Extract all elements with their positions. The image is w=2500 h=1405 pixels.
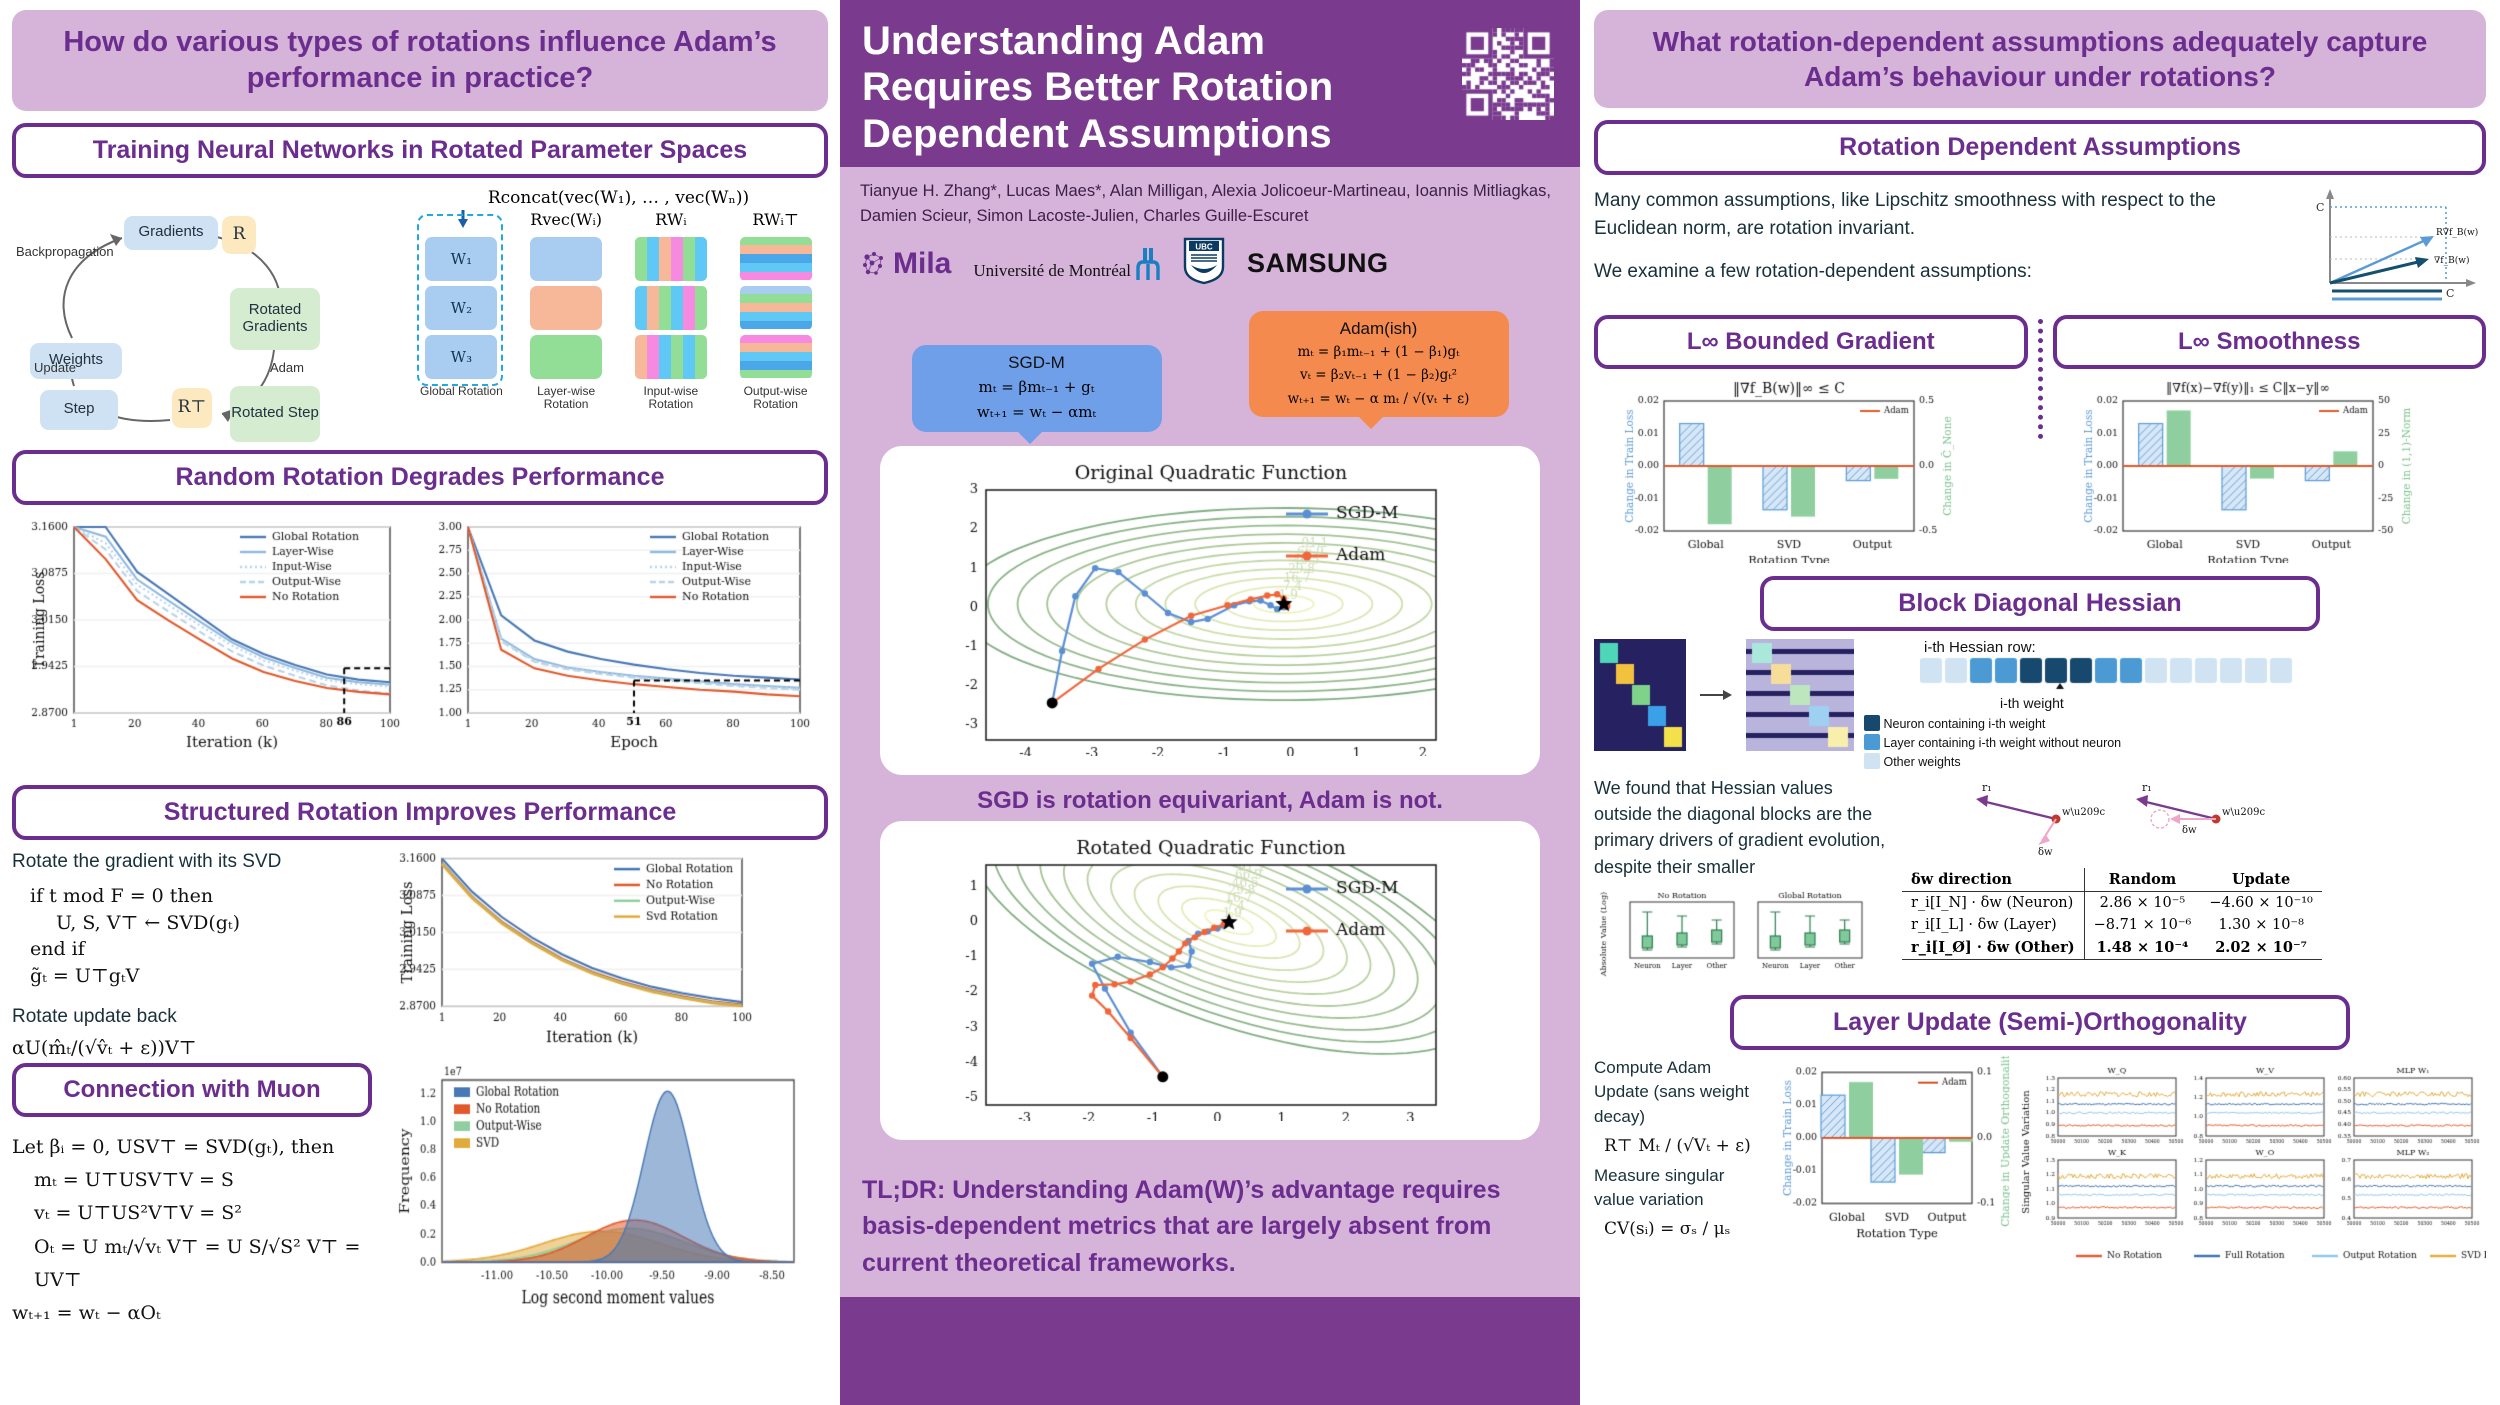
svd-algo-line-0: if t mod F = 0 then <box>30 883 372 910</box>
rotate-back-label: Rotate update back <box>12 1003 372 1031</box>
hessian-legend-item-1: Layer containing i-th weight without neu… <box>1864 734 2486 753</box>
table-header-row: δw direction Random Update <box>1902 868 2322 892</box>
hessian-row-cells <box>1920 656 2300 690</box>
right-question-banner: What rotation-dependent assumptions adeq… <box>1594 10 2486 108</box>
label-dw-right: δw <box>2182 825 2197 836</box>
optimizer-bubbles: SGD-M mₜ = βmₜ₋₁ + gₜ wₜ₊₁ = wₜ − αmₜ Ad… <box>860 311 1560 433</box>
label-wt-right: w\u209c <box>2222 807 2265 818</box>
assumption-para-2: We examine a few rotation-dependent assu… <box>1594 258 2276 286</box>
table-row: r_i[I_Ø] · δw (Other) 1.48 × 10⁻⁴ 2.02 ×… <box>1902 936 2322 960</box>
label-dw-left: δw <box>2038 847 2053 858</box>
diagram-label-c-bottom: C <box>2446 287 2454 300</box>
caption-global-rotation: Global Rotation <box>415 385 507 399</box>
ubc-text: UBC <box>1195 243 1213 252</box>
layer-text-1: Compute Adam Update (sans weight decay) <box>1594 1056 1754 1130</box>
muon-line-0: Let βᵢ = 0, USV⊤ = SVD(gₜ), then <box>12 1131 372 1164</box>
hessian-rows-matrix <box>1746 639 1854 751</box>
section-title-block-diagonal-hessian: Block Diagonal Hessian <box>1760 576 2320 631</box>
edge-label-update: Update <box>34 360 76 375</box>
rotation-diagram-row: Gradients Rotated Gradients Rotated Step… <box>12 188 828 438</box>
outputwise-block-2 <box>740 286 812 330</box>
sgdm-bubble: SGD-M mₜ = βmₜ₋₁ + gₜ wₜ₊₁ = wₜ − αmₜ <box>912 345 1162 433</box>
diagram-label-c-top: C <box>2316 201 2324 214</box>
poster-root: How do various types of rotations influe… <box>0 0 2500 1405</box>
muon-line-3: Oₜ = U mₜ/√vₜ V⊤ = U S/√S² V⊤ = UV⊤ <box>34 1231 372 1298</box>
cell-direction: r_i[I_N] · δw (Neuron) <box>1902 892 2084 915</box>
muon-line-2: vₜ = U⊤US²V⊤V = S² <box>34 1197 372 1230</box>
rotation-cycle-diagram: Gradients Rotated Gradients Rotated Step… <box>12 188 401 438</box>
adam-bubble: Adam(ish) mₜ = β₁mₜ₋₁ + (1 − β₁)gₜ vₜ = … <box>1249 311 1509 418</box>
smoothness-card: L∞ Smoothness <box>2053 315 2487 568</box>
muon-line-4: wₜ₊₁ = wₜ − αOₜ <box>12 1297 372 1330</box>
caption-inputwise-rotation: Input-wise Rotation <box>625 385 717 413</box>
node-rotated-gradients: Rotated Gradients <box>230 288 320 350</box>
rconcat-formula: Rconcat(vec(W₁), … , vec(Wₙ)) <box>409 188 828 208</box>
global-rotation-dashed-box <box>417 214 503 386</box>
muon-row: Connection with Muon Let βᵢ = 0, USV⊤ = … <box>12 1063 828 1331</box>
layer-block-1 <box>530 237 602 281</box>
assumption-cards-row: L∞ Bounded Gradient L∞ Smoothness <box>1594 315 2486 568</box>
logo-ubc: UBC <box>1183 237 1225 290</box>
left-column: How do various types of rotations influe… <box>0 0 840 1405</box>
hessian-findings-row: We found that Hessian values outside the… <box>1594 775 2486 988</box>
section-title-random-rotation: Random Rotation Degrades Performance <box>12 450 828 505</box>
card-title-smoothness: L∞ Smoothness <box>2053 315 2487 369</box>
edge-label-backpropagation: Backpropagation <box>16 244 114 259</box>
logo-udem-text: Université de Montréal <box>973 262 1131 280</box>
cell-random: 1.48 × 10⁻⁴ <box>2084 936 2200 960</box>
svd-algo-line-1: U, S, V⊤ ← SVD(gₜ) <box>56 910 372 937</box>
logo-mila-text: Mila <box>893 247 951 281</box>
layer-formula-2: CV(sᵢ) = σₛ / μₛ <box>1604 1219 1754 1239</box>
rotate-back-formula: αU(m̂ₜ/(√v̂ₜ + ε))V⊤ <box>12 1037 372 1059</box>
chart-second-moment-histogram <box>380 1063 820 1331</box>
muon-block: Connection with Muon Let βᵢ = 0, USV⊤ = … <box>12 1063 372 1331</box>
vector-group-right: r₁ w\u209c δw <box>2136 781 2265 836</box>
outputwise-block-1 <box>740 237 812 281</box>
hessian-findings-text-block: We found that Hessian values outside the… <box>1594 775 1894 988</box>
chart-svd-training-loss <box>380 848 820 1059</box>
hessian-legend: Neuron containing i-th weight Layer cont… <box>1864 715 2486 771</box>
muon-line-1: mₜ = U⊤USV⊤V = S <box>34 1164 372 1197</box>
chart-bounded-gradient <box>1594 373 2024 563</box>
left-question-banner: How do various types of rotations influe… <box>12 10 828 111</box>
adam-title: Adam(ish) <box>1263 319 1495 339</box>
vector-group-left: r₁ w\u209c δw <box>1976 781 2105 858</box>
th-random: Random <box>2084 868 2200 892</box>
hessian-row-label: i-th Hessian row: <box>1924 639 2486 656</box>
poster-title: Understanding Adam Requires Better Rotat… <box>840 0 1460 167</box>
svd-algo-line-3: g̃ₜ = U⊤gₜV <box>30 963 372 990</box>
legend-text-other: Other weights <box>1883 755 1960 769</box>
cell-update: −4.60 × 10⁻¹⁰ <box>2200 892 2322 915</box>
gradient-bound-diagram: C R∇f_B(w) ∇f_B(w) C <box>2286 187 2486 305</box>
rotation-types-grid: Rconcat(vec(W₁), … , vec(Wₙ)) W₁ W₂ W₃ G… <box>409 188 828 438</box>
rotation-header-outputwise: RWᵢ⊤ <box>730 210 822 232</box>
hessian-weight-label: i-th weight <box>2000 695 2486 711</box>
caption-outputwise-rotation: Output-wise Rotation <box>730 385 822 413</box>
right-column: What rotation-dependent assumptions adeq… <box>1580 0 2500 1405</box>
legend-text-neuron: Neuron containing i-th weight <box>1883 717 2045 731</box>
chart-singular-value-variation <box>2016 1056 2486 1271</box>
svd-algorithm: if t mod F = 0 then U, S, V⊤ ← SVD(gₜ) e… <box>30 883 372 989</box>
rotation-matrix-r-transpose: R⊤ <box>172 388 212 428</box>
table-body: r_i[I_N] · δw (Neuron) 2.86 × 10⁻⁵ −4.60… <box>1902 892 2322 960</box>
author-list: Tianyue H. Zhang*, Lucas Maes*, Alan Mil… <box>860 179 1560 229</box>
middle-caption: SGD is rotation equivariant, Adam is not… <box>860 775 1560 819</box>
sgdm-line-0: mₜ = βmₜ₋₁ + gₜ <box>926 377 1148 399</box>
legend-text-layer: Layer containing i-th weight without neu… <box>1883 736 2121 750</box>
hessian-row: i-th Hessian row: i-th weight Neuron con… <box>1594 639 2486 771</box>
mila-mark-icon <box>860 250 888 278</box>
diagram-label-rotated-grad: R∇f_B(w) <box>2436 227 2478 238</box>
card-title-bounded-gradient: L∞ Bounded Gradient <box>1594 315 2028 369</box>
table-row: r_i[I_L] · δw (Layer) −8.71 × 10⁻⁶ 1.30 … <box>1902 914 2322 936</box>
cell-random: −8.71 × 10⁻⁶ <box>2084 914 2200 936</box>
layer-formula-1: R⊤ Mₜ / (√Vₜ + ε) <box>1604 1136 1754 1156</box>
node-gradients: Gradients <box>124 216 218 250</box>
cell-random: 2.86 × 10⁻⁵ <box>2084 892 2200 915</box>
label-r1-left: r₁ <box>1982 781 1992 794</box>
cell-update: 2.02 × 10⁻⁷ <box>2200 936 2322 960</box>
authors-band: Tianyue H. Zhang*, Lucas Maes*, Alan Mil… <box>840 167 1580 1156</box>
outputwise-block-3 <box>740 335 812 379</box>
hessian-findings-text: We found that Hessian values outside the… <box>1594 775 1894 879</box>
adam-line-0: mₜ = β₁mₜ₋₁ + (1 − β₁)gₜ <box>1263 343 1495 363</box>
logo-row: Mila Université de Montréal UBC <box>860 241 1560 287</box>
sgdm-line-1: wₜ₊₁ = wₜ − αmₜ <box>926 402 1148 424</box>
cell-update: 1.30 × 10⁻⁸ <box>2200 914 2322 936</box>
assumption-intro-row: Many common assumptions, like Lipschitz … <box>1594 187 2486 305</box>
chart-gpt2-training-loss <box>12 513 416 773</box>
section-title-layer-update: Layer Update (Semi-)Orthogonality <box>1730 995 2350 1050</box>
layer-update-row: Compute Adam Update (sans weight decay) … <box>1594 1056 2486 1271</box>
svd-intro: Rotate the gradient with its SVD <box>12 848 372 876</box>
cell-direction: r_i[I_Ø] · δw (Other) <box>1902 936 2084 960</box>
svd-text-block: Rotate the gradient with its SVD if t mo… <box>12 848 372 1059</box>
chart-original-quadratic <box>886 456 1546 756</box>
diagram-label-grad: ∇f_B(w) <box>2434 255 2469 266</box>
hessian-direction-table: δw direction Random Update r_i[I_N] · δw… <box>1902 868 2322 960</box>
cell-direction: r_i[I_L] · δw (Layer) <box>1902 914 2084 936</box>
svd-algo-line-2: end if <box>30 936 372 963</box>
layer-block-3 <box>530 335 602 379</box>
legend-swatch-layer <box>1864 734 1880 750</box>
th-direction: δw direction <box>1902 868 2084 892</box>
rotation-header-layerwise: Rvec(Wᵢ) <box>520 210 612 232</box>
bounded-gradient-card: L∞ Bounded Gradient <box>1594 315 2028 568</box>
label-wt-left: w\u209c <box>2062 807 2105 818</box>
sgdm-title: SGD-M <box>926 353 1148 373</box>
loss-charts-row <box>12 513 828 773</box>
udem-mark-icon <box>1135 248 1161 280</box>
section-title-rotation-assumptions: Rotation Dependent Assumptions <box>1594 120 2486 175</box>
hessian-legend-item-2: Other weights <box>1864 753 2486 772</box>
node-step: Step <box>40 390 118 430</box>
hessian-vectors-and-table: r₁ w\u209c δw r₁ w\u209c δw <box>1902 775 2486 988</box>
rotated-quadratic-card <box>880 821 1540 1140</box>
layer-text-2: Measure singular value variation <box>1594 1164 1754 1213</box>
middle-column: Understanding Adam Requires Better Rotat… <box>840 0 1580 1405</box>
logo-samsung: SAMSUNG <box>1247 248 1389 279</box>
caption-layerwise-rotation: Layer-wise Rotation <box>520 385 612 413</box>
chart-rotated-quadratic <box>886 831 1546 1121</box>
ubc-shield-icon: UBC <box>1183 237 1225 285</box>
tldr-banner: TL;DR: Understanding Adam(W)’s advantage… <box>840 1156 1580 1297</box>
hessian-legend-item-0: Neuron containing i-th weight <box>1864 715 2486 734</box>
original-quadratic-card <box>880 446 1540 775</box>
rotation-matrix-r: R <box>222 216 256 254</box>
layer-update-text-block: Compute Adam Update (sans weight decay) … <box>1594 1056 1754 1271</box>
vertical-divider <box>2038 319 2043 439</box>
inputwise-block-3 <box>635 335 707 379</box>
hessian-row-explainer: i-th Hessian row: i-th weight Neuron con… <box>1864 639 2486 771</box>
assumption-text-block: Many common assumptions, like Lipschitz … <box>1594 187 2276 305</box>
hessian-block-diagonal-matrix <box>1594 639 1686 751</box>
label-r1-right: r₁ <box>2142 781 2152 794</box>
assumption-para-1: Many common assumptions, like Lipschitz … <box>1594 187 2276 242</box>
legend-swatch-other <box>1864 753 1880 769</box>
adam-line-2: wₜ₊₁ = wₜ − α mₜ / √(vₜ + ε) <box>1263 390 1495 410</box>
layer-block-2 <box>530 286 602 330</box>
chart-hessian-boxplots <box>1594 886 1884 984</box>
logo-mila: Mila <box>860 247 951 281</box>
th-update: Update <box>2200 868 2322 892</box>
svd-row: Rotate the gradient with its SVD if t mo… <box>12 848 828 1059</box>
legend-swatch-neuron <box>1864 715 1880 731</box>
logo-udem: Université de Montréal <box>973 248 1161 280</box>
section-title-structured-rotation: Structured Rotation Improves Performance <box>12 785 828 840</box>
rotation-col-inputwise: RWᵢ Input-wise Rotation <box>625 210 717 413</box>
muon-derivation: Let βᵢ = 0, USV⊤ = SVD(gₜ), then mₜ = U⊤… <box>12 1131 372 1331</box>
rotation-col-outputwise: RWᵢ⊤ Output-wise Rotation <box>730 210 822 413</box>
inputwise-block-1 <box>635 237 707 281</box>
rotation-header-inputwise: RWᵢ <box>625 210 717 232</box>
delta-w-vector-diagram: r₁ w\u209c δw r₁ w\u209c δw <box>1960 775 2290 861</box>
section-title-training-nn: Training Neural Networks in Rotated Para… <box>12 123 828 178</box>
chart-layer-update-bars <box>1760 1056 2010 1271</box>
node-rotated-step: Rotated Step <box>230 386 320 442</box>
section-title-connection-muon: Connection with Muon <box>12 1063 372 1117</box>
rotation-col-layerwise: Rvec(Wᵢ) Layer-wise Rotation <box>520 210 612 413</box>
chart-smoothness <box>2053 373 2483 563</box>
qr-code-icon[interactable] <box>1462 28 1554 120</box>
chart-vit-training-loss <box>422 513 826 773</box>
inputwise-block-2 <box>635 286 707 330</box>
table-row: r_i[I_N] · δw (Neuron) 2.86 × 10⁻⁵ −4.60… <box>1902 892 2322 915</box>
adam-line-1: vₜ = β₂vₜ₋₁ + (1 − β₂)gₜ² <box>1263 366 1495 386</box>
edge-label-adam: Adam <box>270 360 304 375</box>
arrow-right-icon <box>1696 639 1736 751</box>
